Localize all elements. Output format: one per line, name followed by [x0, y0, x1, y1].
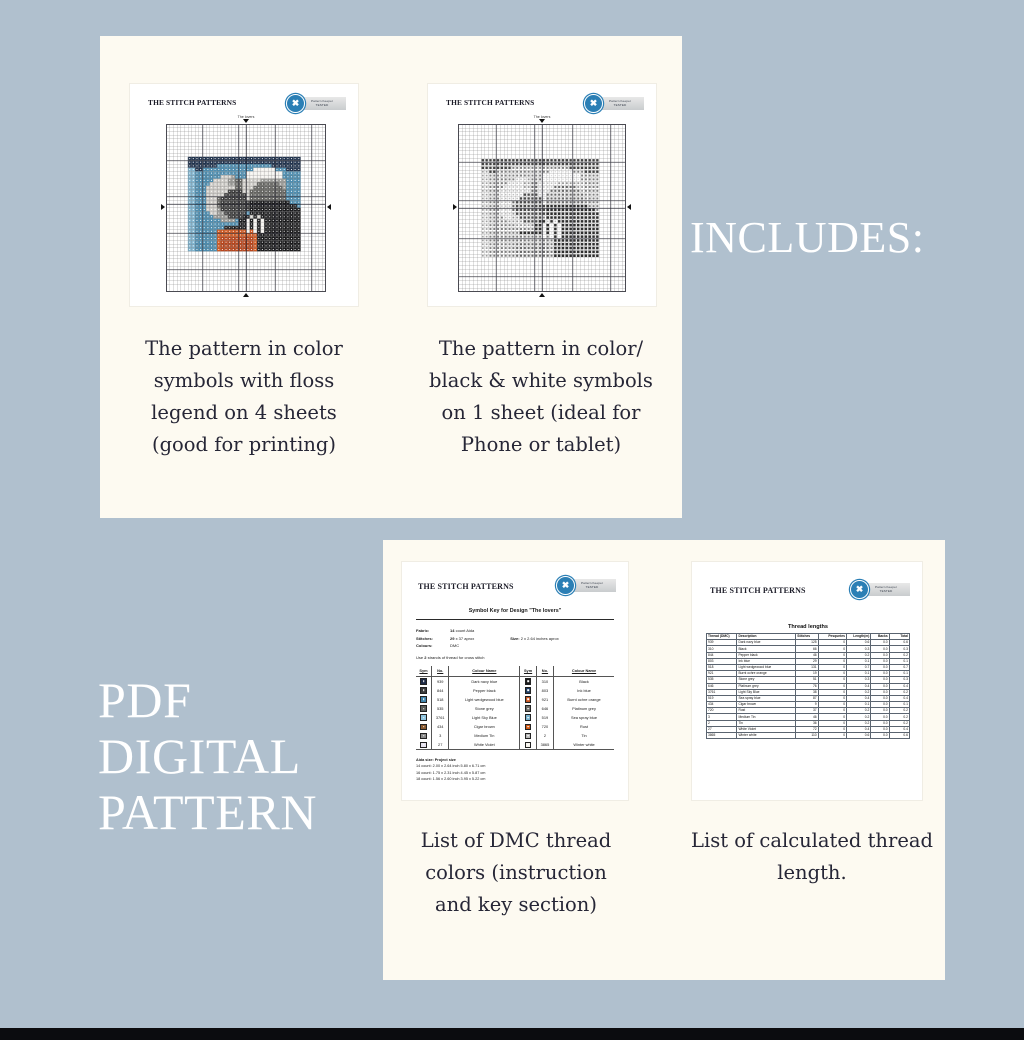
chart-marker-top — [243, 119, 249, 123]
badge-ribbon: Pattern Keeper TESTED — [298, 97, 346, 110]
chart-marker-top — [539, 119, 545, 123]
thread-description: Winter white — [737, 733, 796, 739]
pdf-title-line: PATTERN — [98, 784, 317, 840]
symbol-swatch — [416, 695, 432, 704]
symbol-swatch — [416, 740, 432, 750]
thread-number: 921 — [536, 695, 553, 704]
colour-name: Winter white — [554, 740, 614, 750]
table-row: 535Stone grey646Platinum grey — [416, 704, 614, 713]
symbol-key-footer: Aida size: Project size 14 count: 2.00 x… — [416, 757, 614, 781]
stitch-count: 110 — [796, 733, 818, 739]
caption-thread-length: List of calculated thread length. — [690, 825, 934, 889]
badge-ribbon: Pattern Keeper TESTED — [568, 579, 616, 592]
symbol-swatch — [416, 722, 432, 731]
thread-number: 844 — [432, 686, 449, 695]
meta-label: Stitches: — [416, 635, 450, 643]
colour-name: Burnt ochre orange — [554, 695, 614, 704]
badge-seal-icon: ✖ — [850, 580, 869, 599]
thread-number: 434 — [432, 722, 449, 731]
color-chart[interactable]: The lovers — [166, 124, 326, 292]
table-row: 939Dark navy blue310Black — [416, 676, 614, 686]
column-header: Colour Name — [449, 666, 520, 677]
chart-marker-bottom — [243, 293, 249, 297]
key-meta-row: Colours:DMC — [416, 642, 614, 650]
thread-number: 310 — [536, 676, 553, 686]
chart-marker-right — [327, 204, 331, 210]
symbol-key-heading: Symbol Key for Design "The lovers" — [416, 608, 614, 614]
meta-label-2: Size: — [510, 636, 519, 641]
pattern-keeper-badge: ✖ Pattern Keeper TESTED — [584, 94, 644, 113]
symbol-swatch — [416, 713, 432, 722]
symbol-swatch — [520, 740, 536, 750]
sheet-symbol-key[interactable]: THE STITCH PATTERNS ✖ Pattern Keeper TES… — [402, 562, 628, 800]
symbol-swatch — [520, 704, 536, 713]
table-row: 434Cigar brown720Rust — [416, 722, 614, 731]
meta-value: 29 x 37 aprox — [450, 636, 474, 641]
bw-chart[interactable]: The lovers — [458, 124, 626, 292]
symbol-swatch — [520, 676, 536, 686]
sheet-thread-lengths[interactable]: THE STITCH PATTERNS ✖ Pattern Keeper TES… — [692, 562, 922, 800]
bw-chart-canvas — [458, 124, 626, 292]
meta-label: Fabric: — [416, 627, 450, 635]
badge-seal-icon: ✖ — [556, 576, 575, 595]
pattern-keeper-badge: ✖ Pattern Keeper TESTED — [286, 94, 346, 113]
chart-marker-left — [161, 204, 165, 210]
thread-number: 646 — [536, 704, 553, 713]
pattern-keeper-badge: ✖ Pattern Keeper TESTED — [556, 576, 616, 595]
colour-name: Stone grey — [449, 704, 520, 713]
meta-value-2: 2 x 2.64 inches aprox — [521, 636, 559, 641]
sheet-brand-title: THE STITCH PATTERNS — [446, 98, 534, 107]
symbol-swatch — [520, 695, 536, 704]
colour-name: Black — [554, 676, 614, 686]
column-header: Colour Name — [554, 666, 614, 677]
total-length: 0.6 — [889, 733, 909, 739]
symbol-swatch — [520, 713, 536, 722]
pesquntes-count: 0 — [818, 733, 846, 739]
colour-name: Cigar brown — [449, 722, 520, 731]
column-header: Sym — [416, 666, 432, 677]
divider — [416, 619, 614, 620]
table-row: 844Pepper black803Ink blue — [416, 686, 614, 695]
badge-ribbon: Pattern Keeper TESTED — [862, 583, 910, 596]
thread-number: 3865 — [707, 733, 737, 739]
badge-x-glyph: ✖ — [292, 99, 300, 108]
symbol-swatch — [520, 731, 536, 740]
sheet-color-pattern[interactable]: THE STITCH PATTERNS ✖ Pattern Keeper TES… — [130, 84, 358, 306]
column-header: No. — [432, 666, 449, 677]
colour-name: Pepper black — [449, 686, 520, 695]
table-body: 939Dark navy blue310Black844Pepper black… — [416, 676, 614, 750]
colour-name: Sea spray blue — [554, 713, 614, 722]
meta-label: Colours: — [416, 642, 450, 650]
colour-name: Rust — [554, 722, 614, 731]
footer-title: Aida size: Project size — [416, 758, 456, 762]
badge-line-2: TESTED — [880, 590, 893, 594]
key-meta-row: Fabric:14 count Aida — [416, 627, 614, 635]
table-header-row: SymNo.Colour NameSymNo.Colour Name — [416, 666, 614, 677]
pdf-title-line: DIGITAL — [98, 728, 317, 784]
badge-line-2: TESTED — [586, 586, 599, 590]
thread-lengths-heading: Thread lengths — [706, 624, 910, 630]
colour-name: Light Sky Blue — [449, 713, 520, 722]
thread-number: 2 — [536, 731, 553, 740]
sheet-brand-title: THE STITCH PATTERNS — [418, 582, 514, 591]
meta-value: 14 count Aida — [450, 628, 474, 633]
thread-number: 803 — [536, 686, 553, 695]
thread-lengths-table: Thread (DMC)DescriptionStitchesPesquntes… — [706, 633, 910, 739]
symbol-swatch — [416, 686, 432, 695]
thread-number: 720 — [536, 722, 553, 731]
key-meta-row: Stitches:29 x 37 aproxSize: 2 x 2.64 inc… — [416, 635, 614, 643]
thread-number: 939 — [432, 676, 449, 686]
badge-seal-icon: ✖ — [584, 94, 603, 113]
note-post: strands of thread for cross stitch — [426, 655, 484, 660]
table-row: 3761Light Sky Blue519Sea spray blue — [416, 713, 614, 722]
sheet-brand-title: THE STITCH PATTERNS — [148, 98, 236, 107]
thread-number: 518 — [432, 695, 449, 704]
table-row: 3Medium Tin2Tin — [416, 731, 614, 740]
thread-number: 519 — [536, 713, 553, 722]
badge-x-glyph: ✖ — [856, 585, 864, 594]
symbol-swatch — [416, 704, 432, 713]
thread-number: 535 — [432, 704, 449, 713]
backs-count: 0.0 — [871, 733, 889, 739]
chart-marker-left — [453, 204, 457, 210]
badge-x-glyph: ✖ — [590, 99, 598, 108]
table-body: 939Dark navy blue12500.60.00.6310Black66… — [707, 640, 910, 739]
chart-marker-right — [627, 204, 631, 210]
symbol-swatch — [520, 686, 536, 695]
length-m: 0.6 — [847, 733, 871, 739]
symbol-key-note: Use 2 strands of thread for cross stitch — [416, 655, 614, 660]
symbol-swatch — [520, 722, 536, 731]
pattern-keeper-badge: ✖ Pattern Keeper TESTED — [850, 580, 910, 599]
symbol-swatch — [416, 731, 432, 740]
column-header: Sym — [520, 666, 536, 677]
color-chart-canvas — [166, 124, 326, 292]
caption-bw-symbols: The pattern in color/ black & white symb… — [418, 333, 664, 461]
bottom-edge-strip — [0, 1028, 1024, 1040]
thread-lengths-body: Thread lengths Thread (DMC)DescriptionSt… — [706, 624, 910, 739]
chart-marker-bottom — [539, 293, 545, 297]
symbol-key-table: SymNo.Colour NameSymNo.Colour Name 939Da… — [416, 666, 614, 751]
pdf-digital-pattern-heading: PDFDIGITALPATTERN — [98, 672, 317, 840]
thread-number: 3 — [432, 731, 449, 740]
note-pre: Use — [416, 655, 424, 660]
sheet-brand-title: THE STITCH PATTERNS — [710, 586, 806, 595]
caption-dmc-list: List of DMC thread colors (instruction a… — [404, 825, 628, 921]
colour-name: Light wedgewood blue — [449, 695, 520, 704]
caption-color-symbols: The pattern in color symbols with floss … — [128, 333, 360, 461]
colour-name: Dark navy blue — [449, 676, 520, 686]
badge-x-glyph: ✖ — [562, 581, 570, 590]
symbol-key-body: Symbol Key for Design "The lovers" Fabri… — [416, 608, 614, 782]
thread-number: 3865 — [536, 740, 553, 750]
poster-stage: THE STITCH PATTERNS ✖ Pattern Keeper TES… — [0, 0, 1024, 1040]
colour-name: Medium Tin — [449, 731, 520, 740]
pdf-title-line: PDF — [98, 672, 317, 728]
thread-number: 27 — [432, 740, 449, 750]
symbol-swatch — [416, 676, 432, 686]
badge-seal-icon: ✖ — [286, 94, 305, 113]
badge-ribbon: Pattern Keeper TESTED — [596, 97, 644, 110]
sheet-bw-pattern[interactable]: THE STITCH PATTERNS ✖ Pattern Keeper TES… — [428, 84, 656, 306]
colour-name: Ink blue — [554, 686, 614, 695]
colour-name: Tin — [554, 731, 614, 740]
table-row: 27White Violet3865Winter white — [416, 740, 614, 750]
footer-line: 18 count: 1.56 x 2.60 inch 3.95 x 5.22 c… — [416, 776, 614, 782]
symbol-key-meta: Fabric:14 count AidaStitches:29 x 37 apr… — [416, 627, 614, 650]
badge-line-2: TESTED — [614, 104, 627, 108]
footer-lines: 14 count: 2.00 x 2.64 inch 5.80 x 6.71 c… — [416, 763, 614, 781]
colour-name: White Violet — [449, 740, 520, 750]
table-row: 3865Winter white11000.60.00.6 — [707, 733, 910, 739]
table-row: 518Light wedgewood blue921Burnt ochre or… — [416, 695, 614, 704]
column-header: No. — [536, 666, 553, 677]
colour-name: Platinum grey — [554, 704, 614, 713]
meta-value: DMC — [450, 643, 459, 648]
badge-line-2: TESTED — [316, 104, 329, 108]
includes-heading: INCLUDES: — [690, 216, 925, 260]
thread-number: 3761 — [432, 713, 449, 722]
